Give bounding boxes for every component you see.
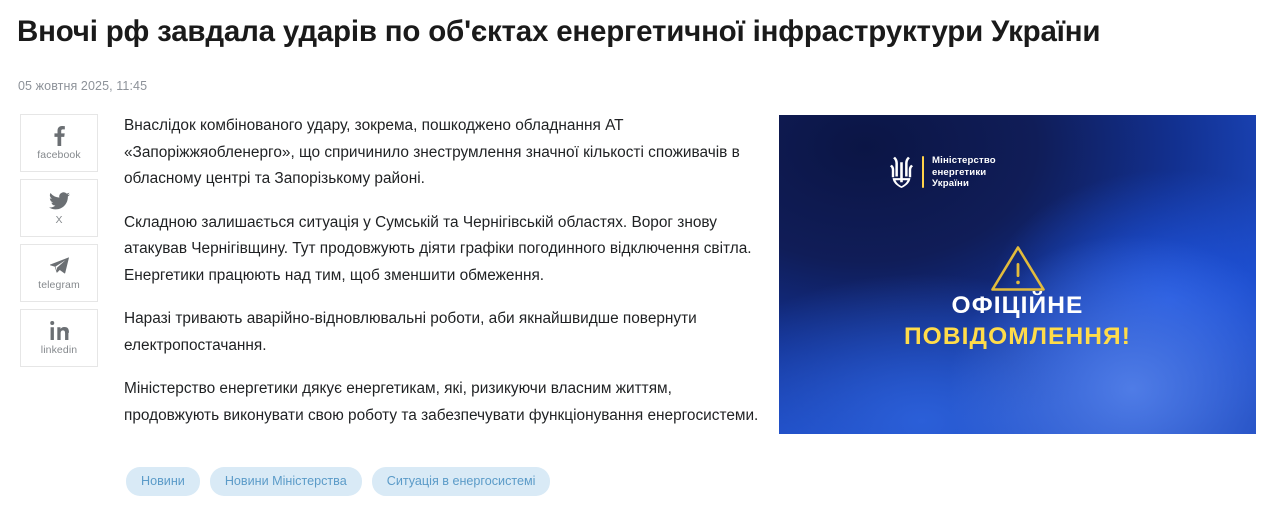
ukraine-trident-icon — [889, 156, 914, 189]
page-title: Вночі рф завдала ударів по об'єктах енер… — [17, 14, 1257, 50]
banner-headline-line-1: ОФІЦІЙНЕ — [779, 291, 1256, 321]
article-paragraph: Наразі тривають аварійно-відновлювальні … — [124, 306, 769, 359]
tag-chip[interactable]: Ситуація в енергосистемі — [372, 467, 551, 496]
share-button-label: facebook — [37, 149, 80, 161]
article-page: Вночі рф завдала ударів по об'єктах енер… — [0, 0, 1280, 517]
article-paragraph: Міністерство енергетики дякує енергетика… — [124, 376, 769, 429]
tag-list: Новини Новини Міністерства Ситуація в ен… — [126, 467, 550, 496]
linkedin-icon — [50, 320, 69, 341]
banner-headline-line-2: ПОВІДОМЛЕННЯ! — [779, 321, 1256, 353]
share-button-x[interactable]: X — [20, 179, 98, 237]
ministry-logo-line-3: України — [932, 178, 996, 190]
ministry-logo: Міністерство енергетики України — [889, 155, 996, 190]
warning-triangle-icon — [779, 243, 1256, 294]
ministry-logo-line-1: Міністерство — [932, 155, 996, 167]
social-share-rail: facebook X telegram — [20, 114, 98, 367]
x-twitter-icon — [49, 190, 70, 211]
banner-headline: ОФІЦІЙНЕ ПОВІДОМЛЕННЯ! — [779, 291, 1256, 353]
tag-chip[interactable]: Новини — [126, 467, 200, 496]
share-button-linkedin[interactable]: linkedin — [20, 309, 98, 367]
facebook-icon — [54, 125, 65, 146]
article-banner-image: Міністерство енергетики України ОФІЦІЙНЕ… — [779, 115, 1256, 434]
article-paragraph: Внаслідок комбінованого удару, зокрема, … — [124, 113, 769, 193]
article-body: Внаслідок комбінованого удару, зокрема, … — [124, 113, 769, 429]
share-button-label: telegram — [38, 279, 80, 291]
share-button-label: linkedin — [41, 344, 77, 356]
ministry-logo-text: Міністерство енергетики України — [932, 155, 996, 190]
ministry-logo-line-2: енергетики — [932, 167, 996, 179]
share-button-label: X — [55, 214, 62, 226]
share-button-facebook[interactable]: facebook — [20, 114, 98, 172]
logo-divider — [922, 156, 924, 188]
share-button-telegram[interactable]: telegram — [20, 244, 98, 302]
article-paragraph: Складною залишається ситуація у Сумській… — [124, 210, 769, 290]
telegram-icon — [50, 255, 69, 276]
tag-chip[interactable]: Новини Міністерства — [210, 467, 362, 496]
publish-timestamp: 05 жовтня 2025, 11:45 — [18, 78, 147, 94]
